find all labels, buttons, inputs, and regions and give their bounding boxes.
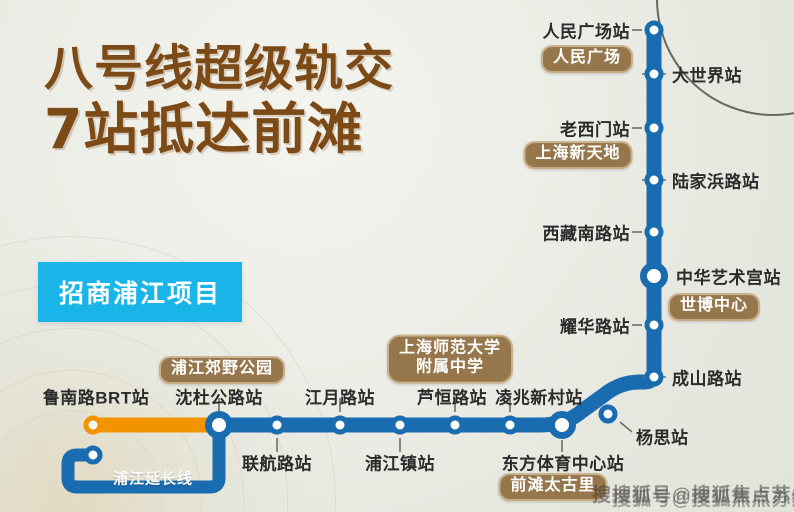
- station-label-yaohua-road: 耀华路站: [560, 313, 630, 338]
- station-label-lujiabang-road: 陆家浜路站: [672, 168, 760, 193]
- poi-badge-shnu-affiliated-school: 上海师范大学 附属中学: [387, 335, 513, 384]
- poi-badge-line-2: 附属中学: [399, 359, 501, 378]
- station-label-oriental-sports-center: 东方体育中心站: [502, 450, 625, 475]
- poi-badge-line-1: 上海师范大学: [399, 340, 501, 359]
- station-node-lianhang-road[interactable]: [268, 416, 287, 435]
- station-label-china-art-museum: 中华艺术宫站: [676, 264, 781, 289]
- poi-badge-renmin-square: 人民广场: [541, 45, 633, 73]
- watermark-secondary: 搜狐号@搜狐焦点苏州站: [612, 484, 794, 511]
- station-label-chengshan-road: 成山路站: [672, 365, 742, 390]
- station-label-lingzhao-xincun: 凌兆新村站: [495, 384, 583, 409]
- station-label-dashijie: 大世界站: [672, 62, 742, 87]
- station-label-jiangyue-road: 江月路站: [305, 384, 375, 409]
- station-label-shendu-highway: 沈杜公路站: [175, 384, 263, 409]
- station-node-jiangyue-road[interactable]: [331, 416, 350, 435]
- extension-line-label: 浦江延长线: [113, 468, 193, 489]
- poi-badge-xintiandi: 上海新天地: [523, 141, 632, 169]
- station-label-laoximen: 老西门站: [560, 116, 630, 141]
- station-label-luheng-road: 芦恒路站: [417, 384, 487, 409]
- station-node-renmin-square[interactable]: [645, 21, 664, 40]
- poi-badge-country-park: 浦江郊野公园: [159, 356, 285, 384]
- station-label-lianhang-road: 联航路站: [242, 450, 312, 475]
- station-label-renmin-square: 人民广场站: [543, 18, 631, 43]
- station-node-yangsi[interactable]: [599, 405, 618, 424]
- station-node-luheng-road[interactable]: [446, 416, 465, 435]
- station-node-shendu-highway[interactable]: [205, 411, 233, 439]
- station-node-dashijie[interactable]: [645, 65, 664, 84]
- station-node-lunan-road-brt[interactable]: [84, 416, 103, 435]
- poi-badge-expo-center: 世博中心: [668, 293, 760, 321]
- station-node-extension-terminus[interactable]: [84, 446, 103, 465]
- station-node-lingzhao-xincun[interactable]: [501, 416, 520, 435]
- station-label-lunan-road-brt: 鲁南路BRT站: [43, 384, 149, 409]
- station-node-yaohua-road[interactable]: [645, 316, 664, 335]
- station-node-chengshan-road[interactable]: [645, 368, 664, 387]
- station-node-xizang-south-road[interactable]: [645, 223, 664, 242]
- station-label-yangsi: 杨思站: [636, 424, 689, 449]
- infographic-canvas: 八号线超级轨交 7站抵达前滩 招商浦江项目: [0, 0, 794, 512]
- station-node-oriental-sports-center[interactable]: [548, 411, 576, 439]
- station-label-xizang-south-road: 西藏南路站: [543, 220, 631, 245]
- station-label-pujiang-town: 浦江镇站: [365, 450, 435, 475]
- station-node-china-art-museum[interactable]: [640, 262, 668, 290]
- station-node-laoximen[interactable]: [645, 119, 664, 138]
- station-node-pujiang-town[interactable]: [391, 416, 410, 435]
- station-node-lujiabang-road[interactable]: [645, 171, 664, 190]
